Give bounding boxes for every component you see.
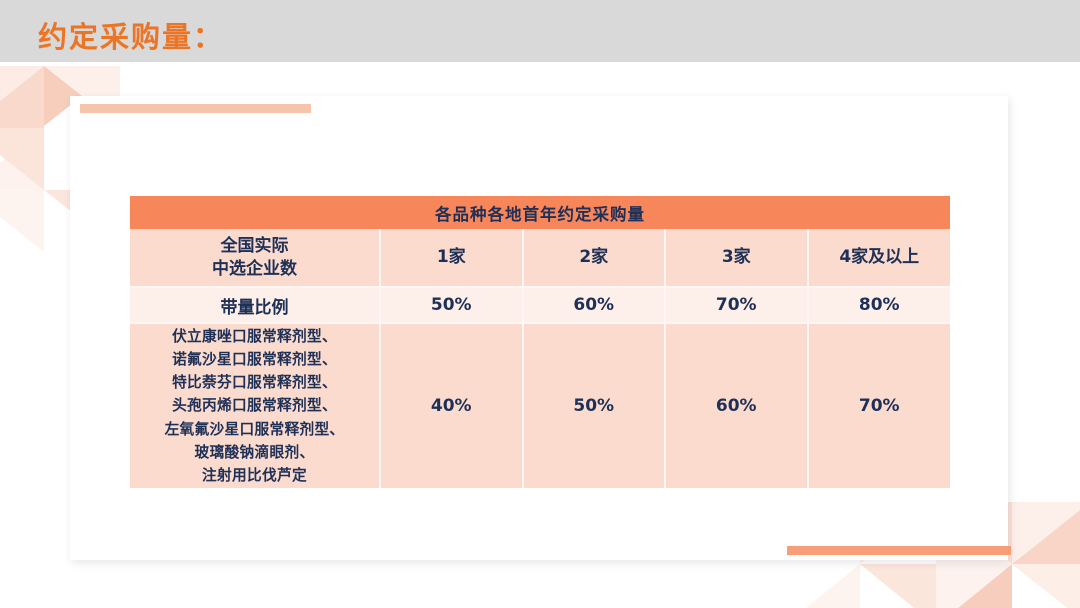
page-title: 约定采购量： [38,14,224,56]
row-label-line-1: 全国实际 [130,235,379,257]
table-cell: 50% [523,323,666,488]
drug-list-item: 注射用比伐芦定 [130,464,379,487]
table-cell: 70% [808,323,951,488]
decor-triangle [860,564,936,608]
table-cell: 80% [808,287,951,323]
table-cell: 50% [380,287,523,323]
drug-list-item: 头孢丙烯口服常释剂型、 [130,394,379,417]
decor-triangle [784,564,860,608]
card-accent-bar-top [80,104,311,113]
card-accent-bar-bottom [787,546,1011,555]
drug-list-item: 左氧氟沙星口服常释剂型、 [130,418,379,441]
table-title: 各品种各地首年约定采购量 [130,196,950,229]
drug-list: 伏立康唑口服常释剂型、 诺氟沙星口服常释剂型、 特比萘芬口服常释剂型、 头孢丙烯… [130,325,379,488]
decor-triangle [0,66,44,128]
decor-triangle [0,66,44,128]
table-cell: 60% [665,323,808,488]
decor-triangle [936,564,1012,608]
row-label-enterprise-count: 全国实际 中选企业数 [130,229,380,287]
row-label-line-2: 中选企业数 [130,258,379,280]
row-label-drug-list: 伏立康唑口服常释剂型、 诺氟沙星口服常释剂型、 特比萘芬口服常释剂型、 头孢丙烯… [130,323,380,488]
decor-triangle [0,128,44,190]
table-cell: 4家及以上 [808,229,951,287]
purchase-table-wrapper: 各品种各地首年约定采购量 全国实际 中选企业数 1家 2家 3家 4家及以上 带… [130,196,950,488]
row-label-volume-ratio: 带量比例 [130,287,380,323]
table-cell: 60% [523,287,666,323]
table-row: 带量比例 50% 60% 70% 80% [130,287,950,323]
decor-triangle [1012,502,1080,564]
drug-list-item: 特比萘芬口服常释剂型、 [130,371,379,394]
table-cell: 3家 [665,229,808,287]
table-row: 全国实际 中选企业数 1家 2家 3家 4家及以上 [130,229,950,287]
decor-triangle [1012,564,1080,608]
table-cell: 70% [665,287,808,323]
table-cell: 1家 [380,229,523,287]
table-title-row: 各品种各地首年约定采购量 [130,196,950,229]
table-cell: 40% [380,323,523,488]
decor-triangle [0,128,44,190]
drug-list-item: 玻璃酸钠滴眼剂、 [130,441,379,464]
table-row: 伏立康唑口服常释剂型、 诺氟沙星口服常释剂型、 特比萘芬口服常释剂型、 头孢丙烯… [130,323,950,488]
decor-triangle [1012,502,1080,564]
decor-triangle [0,190,44,252]
drug-list-item: 诺氟沙星口服常释剂型、 [130,348,379,371]
drug-list-item: 伏立康唑口服常释剂型、 [130,325,379,348]
table-cell: 2家 [523,229,666,287]
purchase-table: 各品种各地首年约定采购量 全国实际 中选企业数 1家 2家 3家 4家及以上 带… [130,196,950,488]
decor-triangle [936,564,1012,608]
decor-triangle [1012,564,1080,608]
